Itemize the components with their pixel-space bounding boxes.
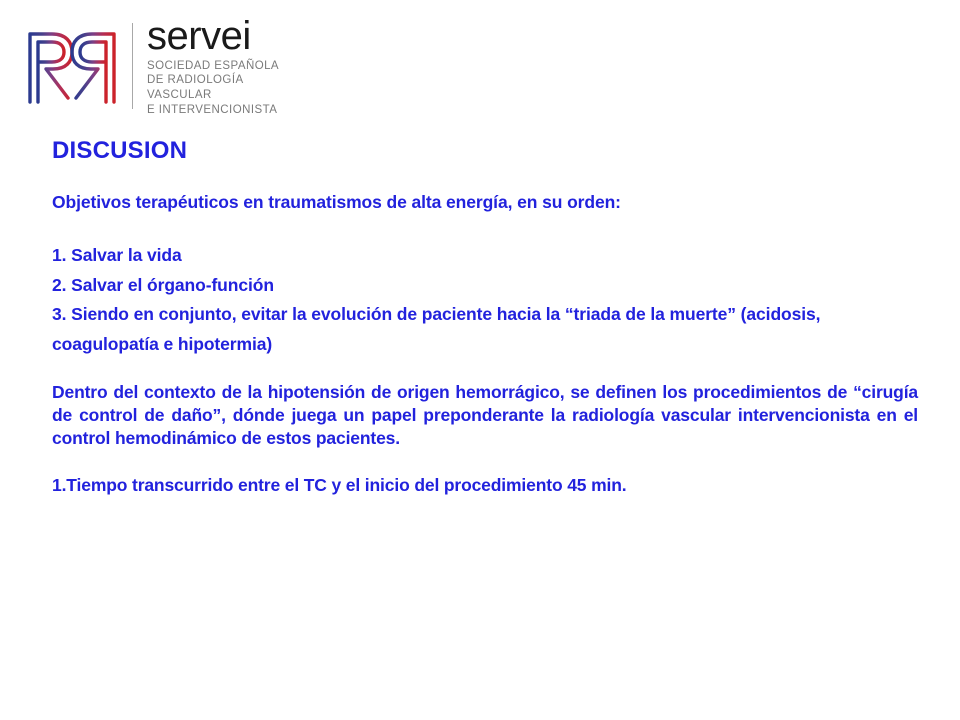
- logo-subtitle-line-1: SOCIEDAD ESPAÑOLA: [147, 59, 279, 74]
- servei-monogram-icon: [22, 16, 122, 116]
- organization-logo: servei SOCIEDAD ESPAÑOLA DE RADIOLOGÍA V…: [22, 14, 279, 118]
- slide-content: DISCUSION Objetivos terapéuticos en trau…: [52, 138, 918, 497]
- lead-line: Objetivos terapéuticos en traumatismos d…: [52, 192, 918, 213]
- logo-divider: [132, 23, 133, 109]
- objectives-list: 1. Salvar la vida 2. Salvar el órgano-fu…: [52, 241, 918, 359]
- logo-subtitle-line-4: E INTERVENCIONISTA: [147, 103, 279, 118]
- logo-wordmark: servei: [147, 17, 279, 55]
- slide-title: DISCUSION: [52, 138, 918, 164]
- objective-item-1: 1. Salvar la vida: [52, 241, 918, 270]
- objective-item-2: 2. Salvar el órgano-función: [52, 271, 918, 300]
- presentation-slide: servei SOCIEDAD ESPAÑOLA DE RADIOLOGÍA V…: [0, 0, 960, 720]
- discussion-paragraph: Dentro del contexto de la hipotensión de…: [52, 381, 918, 451]
- logo-text-block: servei SOCIEDAD ESPAÑOLA DE RADIOLOGÍA V…: [147, 15, 279, 118]
- logo-subtitle-line-2: DE RADIOLOGÍA: [147, 73, 279, 88]
- closing-line: 1.Tiempo transcurrido entre el TC y el i…: [52, 475, 918, 497]
- logo-subtitle-line-3: VASCULAR: [147, 88, 279, 103]
- objective-item-3: 3. Siendo en conjunto, evitar la evoluci…: [52, 300, 918, 359]
